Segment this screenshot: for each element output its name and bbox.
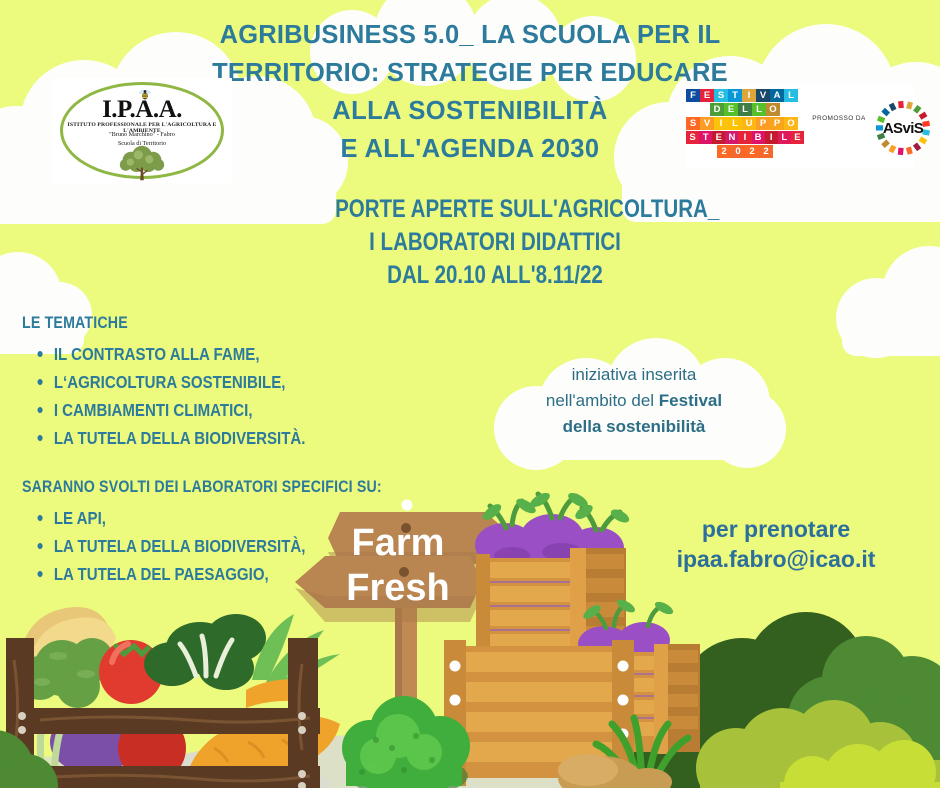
festival-letter-tile: 2 — [745, 145, 759, 158]
festival-letter-tile: I — [714, 117, 728, 130]
title-line-1: AGRIBUSINESS 5.0_ LA SCUOLA PER IL — [170, 16, 770, 54]
list-item: LA TUTELA DELLA BIODIVERSITÀ. — [22, 424, 305, 452]
festival-letter-tile: L — [778, 131, 791, 144]
poster-subtitle: PORTE APERTE SULL'AGRICOLTURA_ I LABORAT… — [300, 193, 690, 292]
subtitle-line-2: I LABORATORI DIDATTICI — [335, 226, 655, 259]
callout-line-3: della sostenibilità — [500, 414, 768, 440]
title-line-2: TERRITORIO: STRATEGIE PER EDUCARE — [170, 54, 770, 92]
ipaa-logo-subtitle-2: "Bruno Marchino" - Fabro — [52, 131, 232, 138]
booking-contact: per prenotare ipaa.fabro@icao.it — [640, 514, 912, 574]
title-line-4: E ALL'AGENDA 2030 — [170, 130, 770, 168]
festival-letter-tile: I — [738, 131, 751, 144]
list-item: LA TUTELA DELLA BIODIVERSITÀ, — [22, 532, 382, 560]
poster-canvas: AGRIBUSINESS 5.0_ LA SCUOLA PER IL TERRI… — [0, 0, 940, 788]
festival-letter-tile: P — [756, 117, 770, 130]
festival-tile-row: DELLO — [686, 103, 804, 116]
festival-tile-row: STENIBILE — [686, 131, 804, 144]
festival-letter-tile: N — [725, 131, 738, 144]
labs-list: LE API, LA TUTELA DELLA BIODIVERSITÀ, LA… — [22, 504, 440, 588]
festival-sviluppo-sostenibile-logo: FESTIVALDELLOSVILUPPOSTENIBILE2022 PROMO… — [686, 84, 914, 169]
list-item: I CAMBIAMENTI CLIMATICI, — [22, 396, 305, 424]
list-item: L‘AGRICOLTURA SOSTENIBILE, — [22, 368, 305, 396]
festival-letter-tile: E — [712, 131, 725, 144]
festival-letter-tile: L — [738, 103, 752, 116]
festival-letter-tile: L — [784, 89, 798, 102]
subtitle-line-1: PORTE APERTE SULL'AGRICOLTURA_ — [335, 193, 655, 226]
labs-section: SARANNO SVOLTI DEI LABORATORI SPECIFICI … — [22, 478, 440, 588]
callout-line-2-bold: Festival — [659, 391, 722, 410]
callout-line-3-bold: della sostenibilità — [563, 417, 706, 436]
callout-line-2-plain: nell'ambito del — [546, 391, 659, 410]
tree-icon — [114, 144, 170, 182]
themes-list: IL CONTRASTO ALLA FAME, L‘AGRICOLTURA SO… — [22, 340, 352, 452]
festival-letter-tile: E — [724, 103, 738, 116]
festival-callout-text: iniziativa inserita nell'ambito del Fest… — [500, 362, 768, 440]
festival-letter-tile: T — [728, 89, 742, 102]
festival-tile-row: 2022 — [686, 145, 804, 158]
festival-letter-tile: B — [752, 131, 765, 144]
festival-letter-tile: 2 — [759, 145, 773, 158]
themes-section: LE TEMATICHE IL CONTRASTO ALLA FAME, L‘A… — [22, 314, 352, 452]
festival-letter-tile: S — [714, 89, 728, 102]
ipaa-logo: I.P.A.A. ISTITUTO PROFESSIONALE PER L'AG… — [52, 78, 232, 183]
contact-prompt: per prenotare — [640, 514, 912, 544]
title-line-3: ALLA SOSTENIBILITÀ — [170, 92, 770, 130]
callout-line-1: iniziativa inserita — [500, 362, 768, 388]
festival-letter-tile: E — [791, 131, 804, 144]
festival-letter-tile: F — [686, 89, 700, 102]
festival-letter-tile: S — [686, 117, 700, 130]
festival-letter-tile: E — [700, 89, 714, 102]
asvis-wordmark: ASviS — [872, 100, 934, 156]
festival-letter-tile: 2 — [717, 145, 731, 158]
festival-letter-tile: V — [700, 117, 714, 130]
promosso-da-label: PROMOSSO DA — [810, 114, 868, 123]
festival-letter-tile: I — [765, 131, 778, 144]
festival-letter-tile: I — [742, 89, 756, 102]
festival-letter-tiles: FESTIVALDELLOSVILUPPOSTENIBILE2022 — [686, 89, 804, 159]
crate-vegetables-left — [6, 607, 340, 788]
subtitle-line-3: DAL 20.10 ALL'8.11/22 — [335, 259, 655, 292]
festival-letter-tile: U — [742, 117, 756, 130]
list-item: LA TUTELA DEL PAESAGGIO, — [22, 560, 382, 588]
callout-line-2: nell'ambito del Festival — [500, 388, 768, 414]
labs-heading: SARANNO SVOLTI DEI LABORATORI SPECIFICI … — [22, 478, 382, 497]
festival-tile-row: SVILUPPO — [686, 117, 804, 130]
bee-icon — [138, 88, 152, 101]
festival-letter-tile: S — [686, 131, 699, 144]
contact-email[interactable]: ipaa.fabro@icao.it — [640, 544, 912, 574]
festival-letter-tile: A — [770, 89, 784, 102]
festival-letter-tile: L — [728, 117, 742, 130]
festival-tile-row: FESTIVAL — [686, 89, 804, 102]
festival-letter-tile: T — [699, 131, 712, 144]
asvis-logo: ASviS — [872, 100, 934, 156]
poster-title: AGRIBUSINESS 5.0_ LA SCUOLA PER IL TERRI… — [170, 16, 770, 168]
list-item: IL CONTRASTO ALLA FAME, — [22, 340, 305, 368]
list-item: LE API, — [22, 504, 382, 532]
festival-letter-tile: O — [784, 117, 798, 130]
themes-heading: LE TEMATICHE — [22, 314, 305, 333]
festival-letter-tile: P — [770, 117, 784, 130]
festival-letter-tile: 0 — [731, 145, 745, 158]
festival-letter-tile: V — [756, 89, 770, 102]
festival-letter-tile: L — [752, 103, 766, 116]
festival-letter-tile: O — [766, 103, 780, 116]
festival-letter-tile: D — [710, 103, 724, 116]
